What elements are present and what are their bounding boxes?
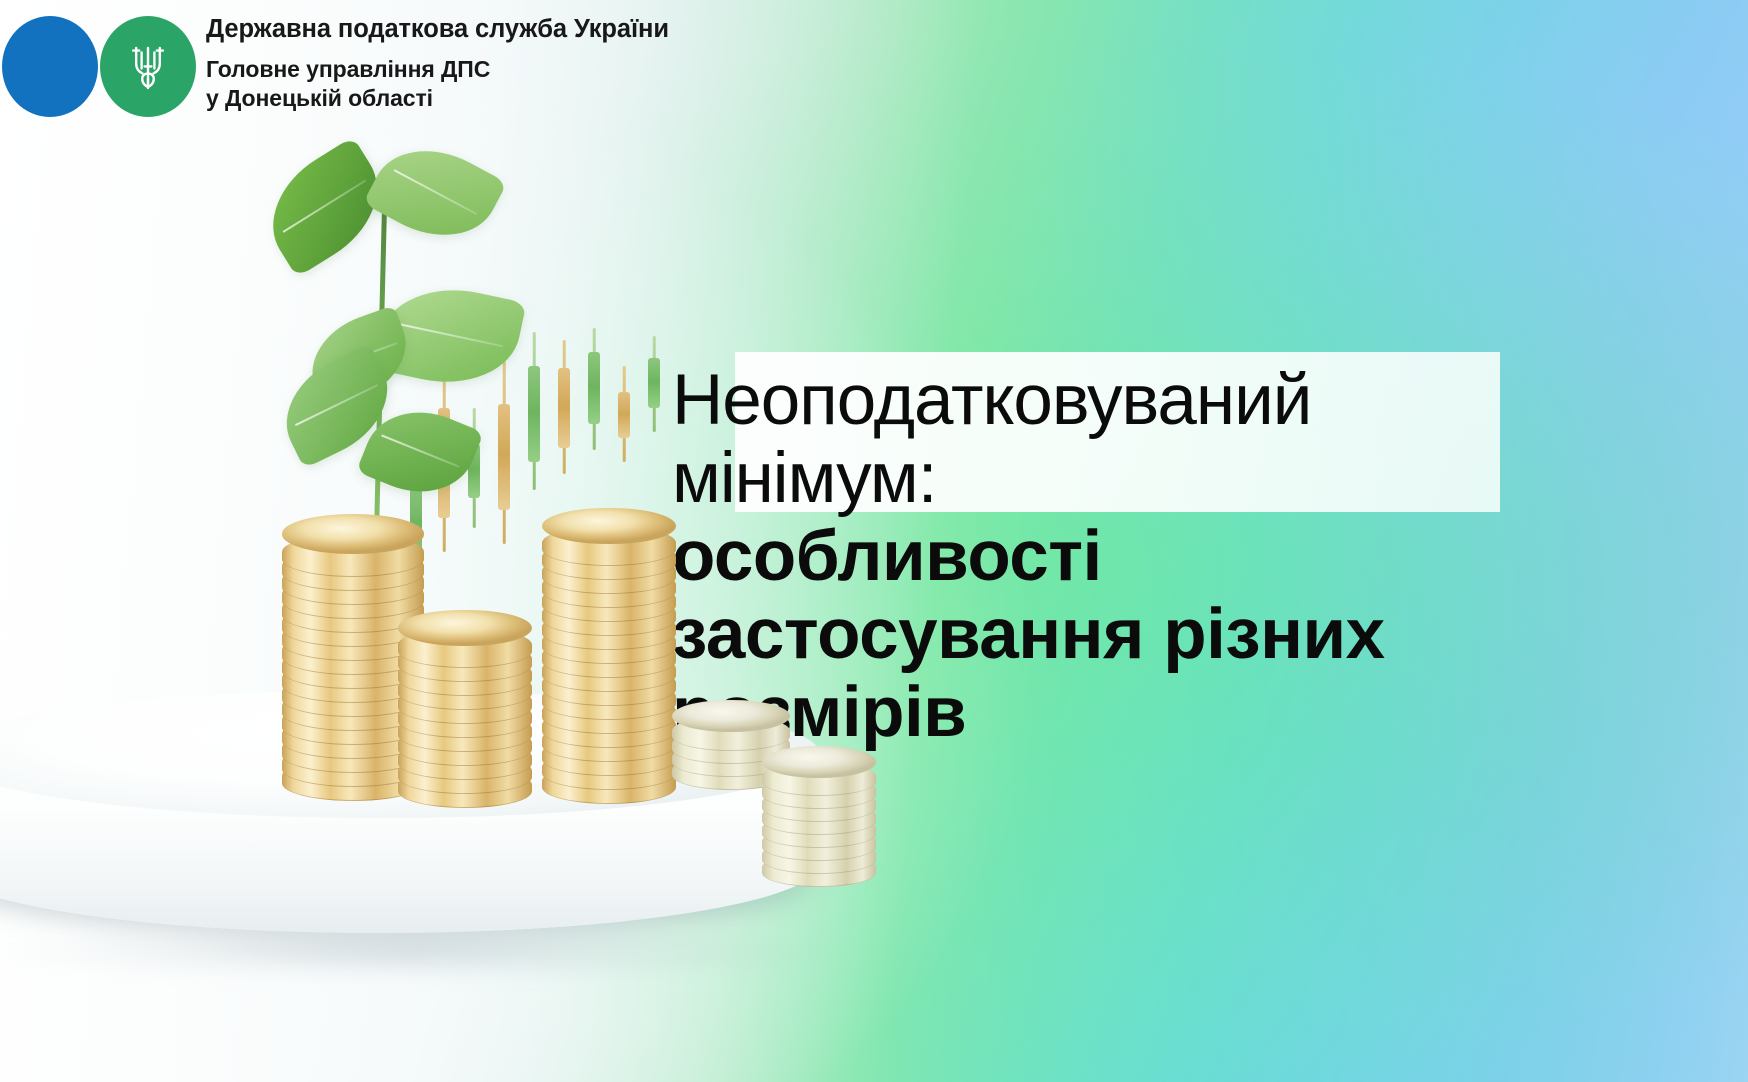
logo-green-circle	[100, 16, 196, 117]
coin-top-face	[672, 700, 790, 733]
candlestick-body	[558, 368, 570, 448]
org-name-line-1: Державна податкова служба України	[206, 14, 786, 44]
coin-stack-pale-lower	[762, 762, 876, 900]
coin-top-face	[282, 514, 424, 553]
coin-stack-center	[398, 628, 532, 822]
coin-top-face	[762, 746, 876, 777]
growing-plant-illustration	[246, 138, 556, 568]
coin-stack-tall-right	[542, 526, 676, 818]
org-name-line-3: у Донецькій області	[206, 84, 786, 113]
title-line-1: Неоподатковуваний	[672, 352, 1682, 440]
org-name-line-2: Головне управління ДПС	[206, 55, 786, 84]
coin-top-face	[542, 508, 676, 545]
candlestick-body	[618, 392, 630, 438]
candlestick-body	[588, 352, 600, 424]
coin-top-face	[398, 610, 532, 647]
title-line-4: застосування різних	[672, 596, 1682, 674]
title-line-3: особливості	[672, 518, 1682, 596]
title-line-2: мінімум:	[672, 440, 1682, 518]
poster-title: Неоподатковуваний мінімум: особливості з…	[672, 352, 1682, 752]
brand-text-block: Державна податкова служба України Головн…	[206, 14, 786, 113]
ukraine-trident-icon	[128, 41, 168, 93]
title-line-5: розмірів	[672, 674, 1682, 752]
poster-canvas: Державна податкова служба України Головн…	[0, 0, 1748, 1082]
header-brand-block: Державна податкова служба України Головн…	[0, 0, 800, 134]
candlestick-body	[648, 358, 660, 408]
logo-blue-circle	[2, 16, 98, 117]
